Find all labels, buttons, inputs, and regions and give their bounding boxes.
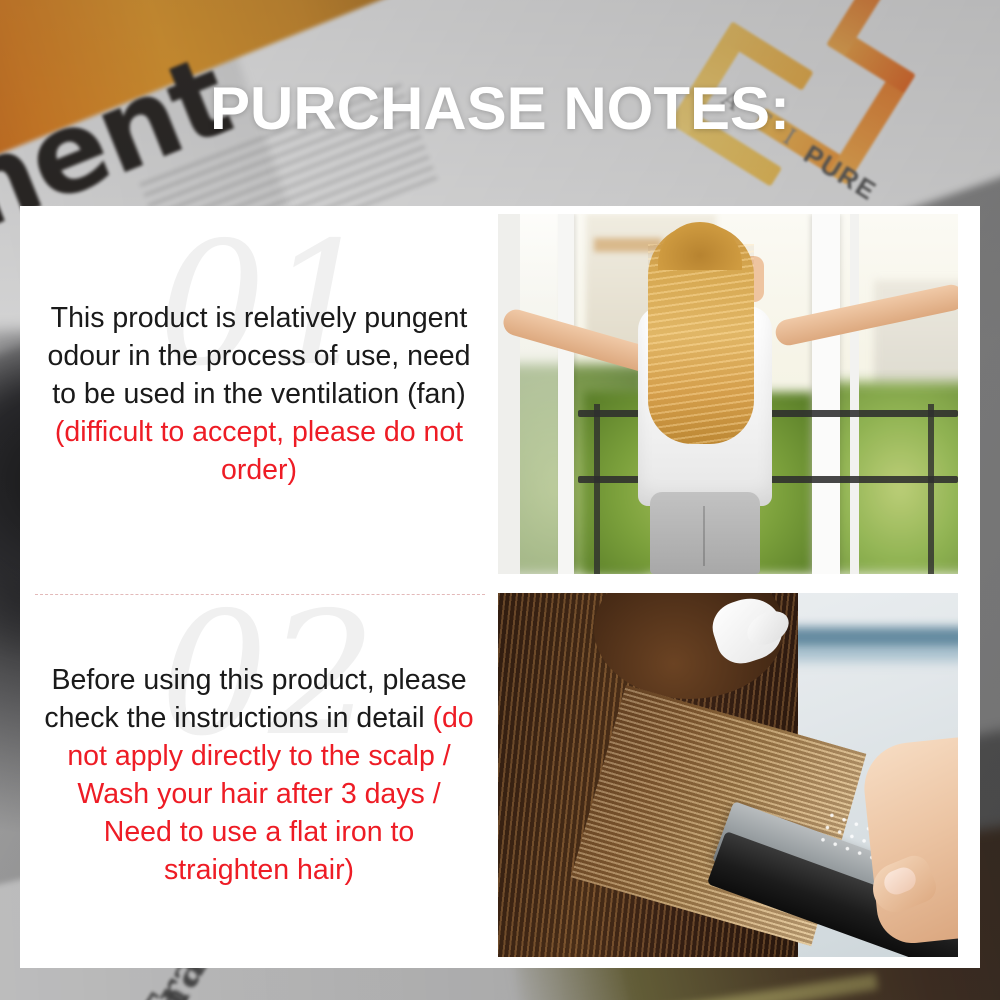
note-paragraph-02: Before using this product, please check … (44, 661, 474, 889)
window-frame-center (812, 214, 840, 574)
balcony-rail-post-2 (928, 404, 934, 574)
page-title: PURCHASE NOTES: (0, 78, 1000, 140)
note-row-02: 02 Before using this product, please che… (20, 582, 980, 968)
purchase-notes-banner: atment Trait In PURE A T I PURCHASE NOTE… (0, 0, 1000, 1000)
woman-shorts (650, 492, 760, 574)
window-frame-left (558, 214, 574, 574)
note-text-column-01: 01 This product is relatively pungent od… (20, 206, 498, 582)
woman-hair-strands (648, 244, 754, 444)
note-paragraph-01: This product is relatively pungent odour… (44, 299, 474, 489)
note-image-column-01 (498, 206, 980, 582)
section-divider (35, 594, 485, 595)
note-black-text-02: Before using this product, please check … (44, 664, 466, 734)
notes-card: 01 This product is relatively pungent od… (20, 206, 980, 968)
note-image-column-02 (498, 582, 980, 968)
photo-flat-iron-straightening-hair (498, 593, 958, 957)
note-row-01: 01 This product is relatively pungent od… (20, 206, 980, 582)
woman-shorts-seam (703, 506, 705, 566)
note-black-text-01: This product is relatively pungent odour… (47, 302, 470, 410)
note-text-column-02: 02 Before using this product, please che… (20, 582, 498, 968)
window-frame-right (850, 214, 859, 574)
window-glass-left (520, 214, 558, 574)
window-frame-outer-left (498, 214, 520, 574)
balcony-rail-post-1 (594, 404, 600, 574)
photo-woman-opening-window (498, 214, 958, 574)
note-red-text-01: (difficult to accept, please do not orde… (55, 416, 463, 486)
